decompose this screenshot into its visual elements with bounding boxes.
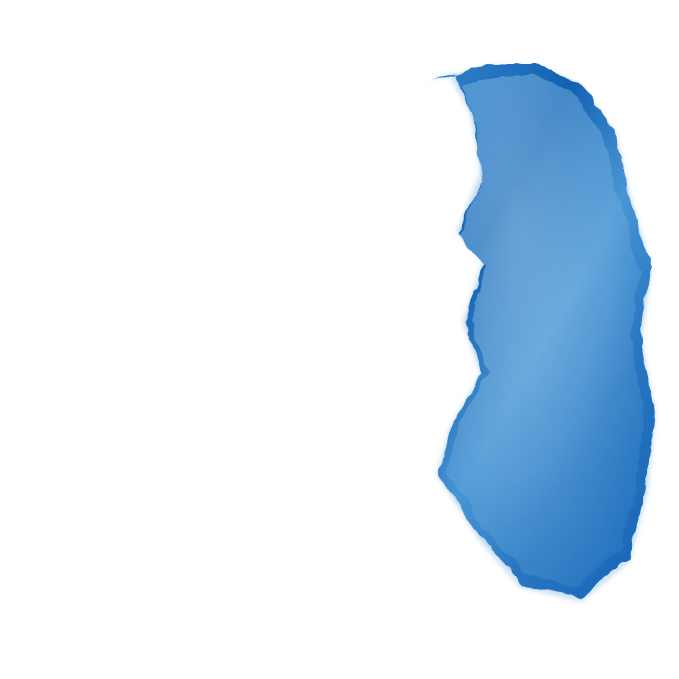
poster-canvas bbox=[0, 0, 679, 679]
marketing-copy-block bbox=[55, 168, 355, 194]
map-svg bbox=[330, 22, 670, 662]
finland-watercolor-map bbox=[330, 22, 670, 662]
